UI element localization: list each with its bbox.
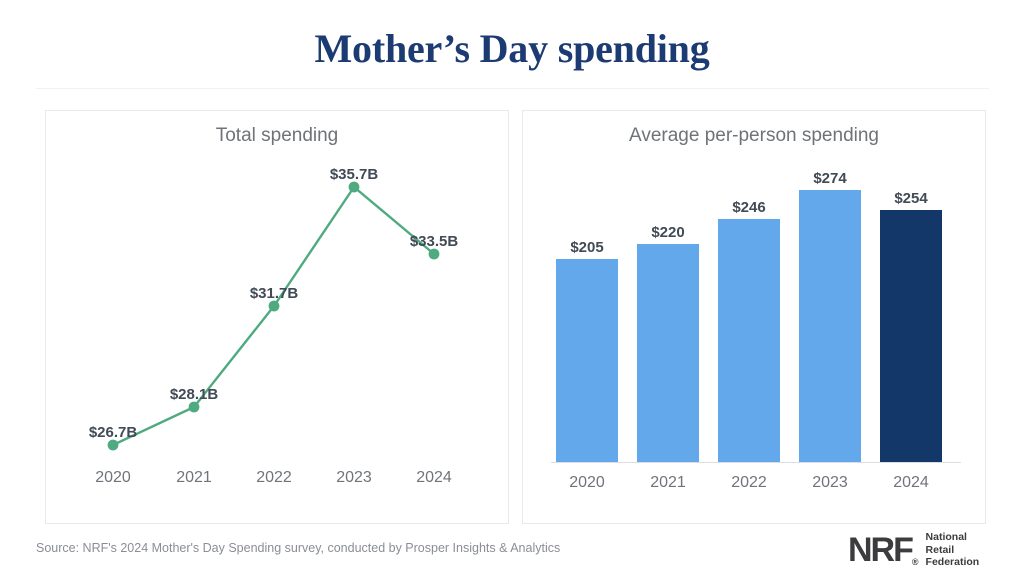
bar-value-2024: $254	[880, 190, 942, 207]
bar-value-2020: $205	[556, 239, 618, 256]
line-value-label-2022: $31.7B	[250, 285, 298, 302]
bar-axis-label-2024: 2024	[880, 474, 942, 492]
header: Mother’s Day spending	[0, 0, 1024, 89]
line-value-label-2024: $33.5B	[410, 233, 458, 250]
bar-chart-baseline	[551, 462, 961, 463]
line-axis-label-2023: 2023	[336, 469, 372, 487]
bar-axis-label-2020: 2020	[556, 474, 618, 492]
registered-trademark-icon: ®	[912, 557, 919, 567]
line-axis-label-2020: 2020	[95, 469, 131, 487]
bar-2024	[880, 210, 942, 462]
line-series-path	[113, 187, 434, 445]
nrf-logo-letters: NRF	[848, 531, 912, 569]
bar-axis-label-2022: 2022	[718, 474, 780, 492]
line-chart: $26.7B $28.1B $31.7B $35.7B $33.5B 2020 …	[46, 111, 508, 523]
line-axis-label-2022: 2022	[256, 469, 292, 487]
bar-chart: $205 $220 $246 $274 $254 2020 2021 2022 …	[523, 111, 985, 523]
page-title: Mother’s Day spending	[0, 25, 1024, 72]
line-point-2023	[349, 182, 360, 193]
panel-average-per-person-spending: Average per-person spending $205 $220 $2…	[522, 110, 986, 524]
nrf-logo: NRF® National Retail Federation	[848, 531, 979, 569]
line-chart-svg	[46, 111, 508, 523]
nrf-logo-line-1: National	[926, 531, 980, 543]
line-axis-label-2021: 2021	[176, 469, 212, 487]
bar-axis-label-2023: 2023	[799, 474, 861, 492]
line-point-2021	[189, 402, 200, 413]
line-value-label-2021: $28.1B	[170, 386, 218, 403]
bar-2021	[637, 244, 699, 462]
line-value-label-2020: $26.7B	[89, 424, 137, 441]
line-value-label-2023: $35.7B	[330, 166, 378, 183]
bar-2020	[556, 259, 618, 462]
line-point-2022	[269, 301, 280, 312]
line-point-2024	[429, 249, 440, 260]
nrf-logo-wordmark: National Retail Federation	[926, 531, 980, 568]
nrf-logo-line-3: Federation	[926, 556, 980, 568]
bar-value-2022: $246	[718, 199, 780, 216]
bar-value-2021: $220	[637, 224, 699, 241]
bar-2023	[799, 190, 861, 462]
bar-value-2023: $274	[799, 170, 861, 187]
line-axis-label-2024: 2024	[416, 469, 452, 487]
source-note: Source: NRF's 2024 Mother's Day Spending…	[36, 541, 560, 555]
bar-2022	[718, 219, 780, 462]
nrf-logo-mark: NRF®	[848, 533, 919, 567]
line-point-2020	[108, 440, 119, 451]
bar-axis-label-2021: 2021	[637, 474, 699, 492]
panel-total-spending: Total spending $26.7B $28.1B $31.7B $35.…	[45, 110, 509, 524]
nrf-logo-line-2: Retail	[926, 544, 980, 556]
header-divider	[36, 88, 989, 89]
